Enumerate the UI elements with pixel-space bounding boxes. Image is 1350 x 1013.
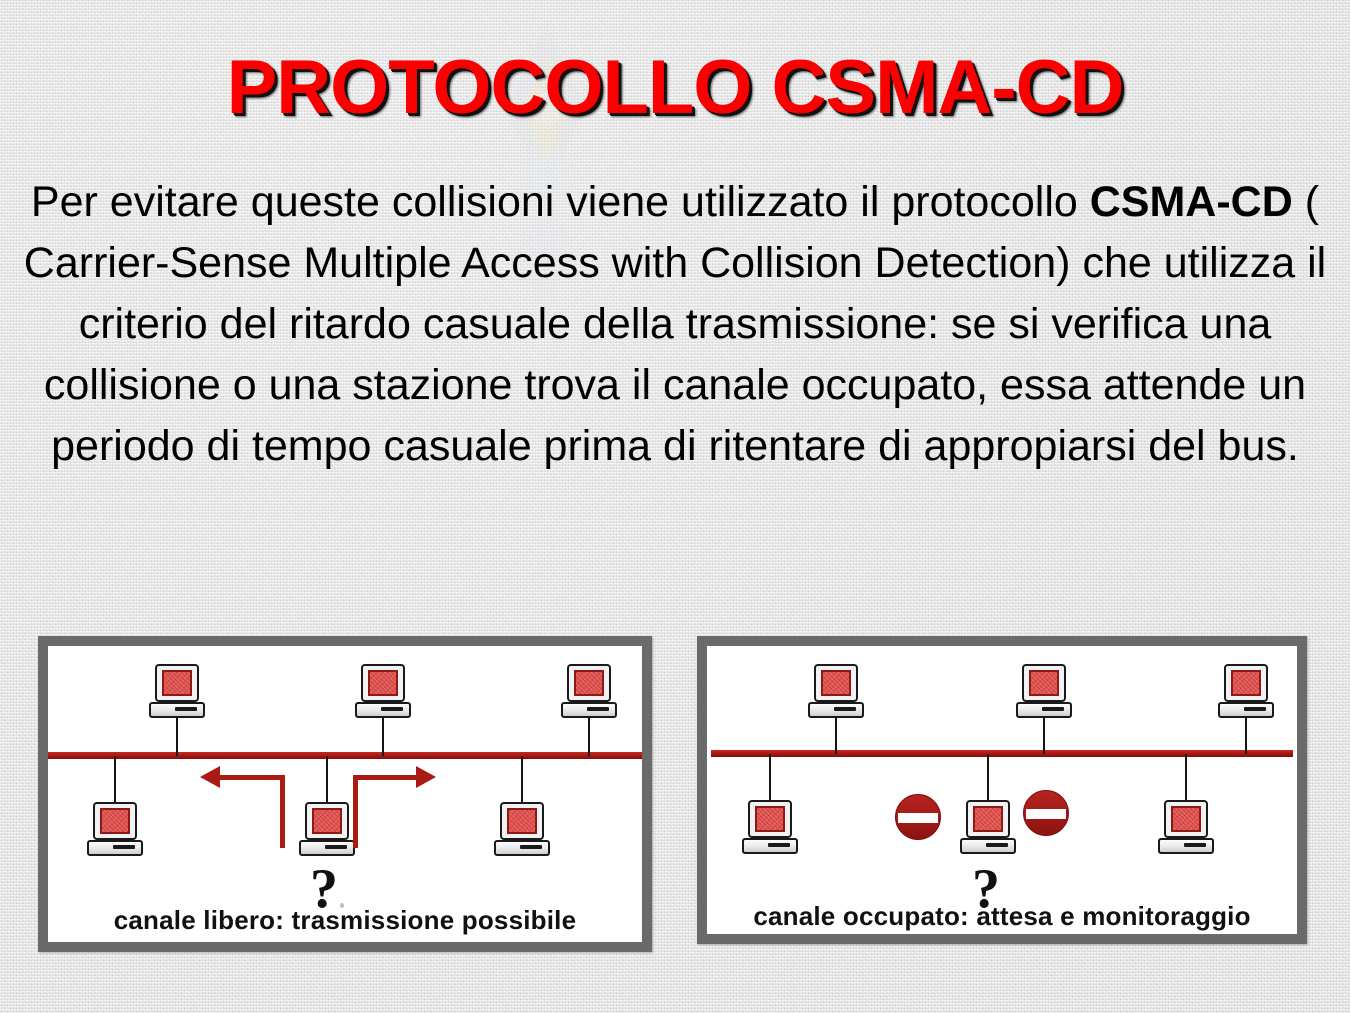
drop-wire [326, 756, 328, 804]
no-entry-sign-left-icon [895, 794, 941, 840]
monitor-icon [1164, 800, 1208, 838]
drive-slot [325, 845, 347, 849]
arrow-right-shaft [353, 775, 418, 780]
monitor-icon [305, 802, 349, 840]
arrow-left-shaft [220, 775, 285, 780]
figure-caption-busy-channel: canale occupato: attesa e monitoraggio [707, 901, 1297, 932]
station-bottom-1 [87, 802, 143, 858]
monitor-icon [748, 800, 792, 838]
drive-slot [1042, 707, 1064, 711]
drive-slot [1244, 707, 1266, 711]
screen [821, 670, 851, 696]
drive-slot [381, 707, 403, 711]
screen [1029, 670, 1059, 696]
arrow-right-head-icon [416, 766, 436, 788]
arrow-left-riser [280, 775, 285, 848]
drive-slot [834, 707, 856, 711]
screen [162, 670, 192, 696]
screen [368, 670, 398, 696]
no-entry-sign-right-icon [1023, 790, 1069, 836]
station-top-3 [1218, 664, 1274, 720]
screen [755, 806, 785, 832]
station-top-1 [149, 664, 205, 720]
arrow-left-head-icon [200, 766, 220, 788]
drop-wire [1185, 754, 1187, 802]
monitor-icon [93, 802, 137, 840]
drive-slot [587, 707, 609, 711]
screen [100, 808, 130, 834]
monitor-icon [966, 800, 1010, 838]
drop-wire [176, 716, 178, 756]
drop-wire [835, 716, 837, 754]
figure-busy-channel: ? canale occupato: attesa e monitoraggio [697, 636, 1307, 944]
monitor-icon [361, 664, 405, 702]
drive-slot [986, 843, 1008, 847]
page-title: PROTOCOLLO CSMA-CD [0, 44, 1350, 131]
drop-wire [987, 754, 989, 802]
drive-slot [520, 845, 542, 849]
monitor-icon [155, 664, 199, 702]
drop-wire [588, 716, 590, 756]
station-bottom-3 [494, 802, 550, 858]
drive-slot [113, 845, 135, 849]
monitor-icon [1022, 664, 1066, 702]
monitor-icon [1224, 664, 1268, 702]
screen [312, 808, 342, 834]
drive-slot [768, 843, 790, 847]
drop-wire [1043, 716, 1045, 754]
drop-wire [521, 756, 523, 804]
figure-free-channel-canvas: ? canale libero: trasmissione possibile [48, 646, 642, 942]
screen [973, 806, 1003, 832]
station-top-2 [355, 664, 411, 720]
station-bottom-2-waiting [960, 800, 1016, 856]
figure-caption-free-channel: canale libero: trasmissione possibile [48, 905, 642, 936]
monitor-icon [814, 664, 858, 702]
drive-slot [1184, 843, 1206, 847]
drop-wire [114, 756, 116, 804]
drop-wire [382, 716, 384, 756]
figure-free-channel: ? canale libero: trasmissione possibile [38, 636, 652, 952]
screen [574, 670, 604, 696]
paragraph-bold-term: CSMA-CD [1090, 178, 1293, 226]
drop-wire [1245, 716, 1247, 754]
station-top-2 [1016, 664, 1072, 720]
body-paragraph: Per evitare queste collisioni viene util… [18, 172, 1332, 477]
arrow-right-riser [353, 775, 358, 848]
bus-line [48, 752, 642, 759]
paragraph-segment-1: Per evitare queste collisioni viene util… [31, 178, 1090, 226]
station-top-3 [561, 664, 617, 720]
station-bottom-2-transmitter [299, 802, 355, 858]
monitor-icon [500, 802, 544, 840]
slide-canvas: PROTOCOLLO CSMA-CD Per evitare queste co… [0, 0, 1350, 1013]
station-bottom-3 [1158, 800, 1214, 856]
screen [1231, 670, 1261, 696]
station-top-1 [808, 664, 864, 720]
screen [507, 808, 537, 834]
monitor-icon [567, 664, 611, 702]
drive-slot [175, 707, 197, 711]
screen [1171, 806, 1201, 832]
bus-line [711, 750, 1293, 757]
figure-busy-channel-canvas: ? canale occupato: attesa e monitoraggio [707, 646, 1297, 934]
station-bottom-1 [742, 800, 798, 856]
drop-wire [769, 754, 771, 802]
